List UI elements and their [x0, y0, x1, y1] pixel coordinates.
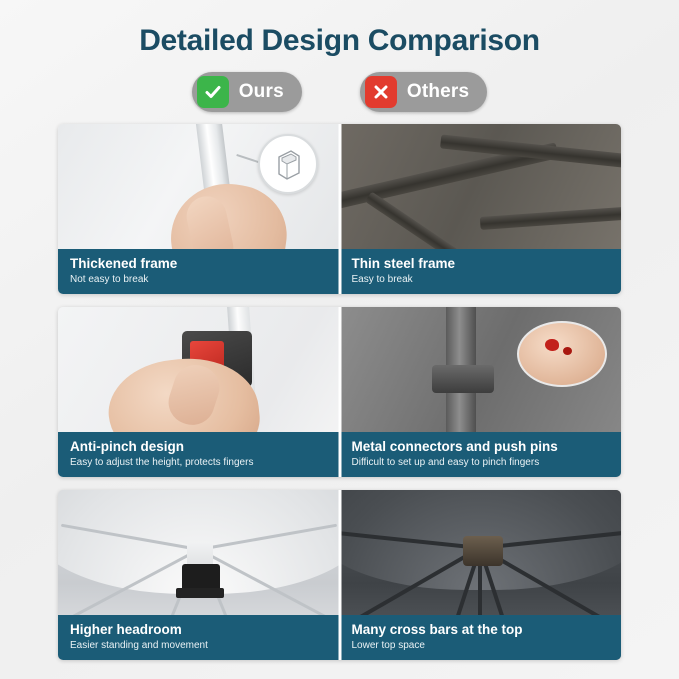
row2-others-caption: Metal connectors and push pins Difficult… [340, 432, 622, 477]
row3-others-title: Many cross bars at the top [352, 622, 610, 638]
center-hub [463, 536, 503, 566]
row3-others-subtitle: Lower top space [352, 640, 610, 652]
blood-drop-icon [563, 347, 572, 355]
frame-profile-callout [258, 134, 318, 194]
comparison-row-headroom: Higher headroom Easier standing and move… [58, 490, 621, 660]
row2-ours-title: Anti-pinch design [70, 439, 328, 455]
row1-others-caption: Thin steel frame Easy to break [340, 249, 622, 294]
row3-others-caption: Many cross bars at the top Lower top spa… [340, 615, 622, 660]
legend-ours-label: Ours [239, 81, 284, 103]
row3-ours-caption: Higher headroom Easier standing and move… [58, 615, 340, 660]
row1-ours-subtitle: Not easy to break [70, 274, 328, 286]
comparison-row-anti-pinch: Anti-pinch design Easy to adjust the hei… [58, 307, 621, 477]
legend-others-label: Others [407, 81, 469, 103]
row-divider [338, 490, 341, 660]
row2-ours-caption: Anti-pinch design Easy to adjust the hei… [58, 432, 340, 477]
row2-ours-panel: Anti-pinch design Easy to adjust the hei… [58, 307, 340, 477]
legend-row: Ours Others [0, 72, 679, 112]
blood-drop-icon [545, 339, 559, 351]
row1-ours-title: Thickened frame [70, 256, 328, 272]
row2-others-title: Metal connectors and push pins [352, 439, 610, 455]
row3-others-panel: Many cross bars at the top Lower top spa… [340, 490, 622, 660]
cross-icon [365, 76, 397, 108]
comparison-page: Detailed Design Comparison Ours Others [0, 0, 679, 679]
row1-others-subtitle: Easy to break [352, 274, 610, 286]
row1-others-panel: Thin steel frame Easy to break [340, 124, 622, 294]
metal-connector [432, 365, 494, 393]
check-icon [197, 76, 229, 108]
thin-steel-bar [479, 203, 621, 230]
legend-others: Others [360, 72, 487, 112]
row1-others-title: Thin steel frame [352, 256, 610, 272]
row-divider [338, 124, 341, 294]
comparison-row-frame: Thickened frame Not easy to break Thin s… [58, 124, 621, 294]
row-divider [338, 307, 341, 477]
row3-ours-title: Higher headroom [70, 622, 328, 638]
row2-others-panel: Metal connectors and push pins Difficult… [340, 307, 622, 477]
pinched-finger-inset [517, 321, 607, 387]
comparison-rows: Thickened frame Not easy to break Thin s… [58, 124, 621, 660]
latch-arm [176, 588, 224, 598]
row1-ours-panel: Thickened frame Not easy to break [58, 124, 340, 294]
row1-ours-caption: Thickened frame Not easy to break [58, 249, 340, 294]
row2-others-subtitle: Difficult to set up and easy to pinch fi… [352, 457, 610, 469]
row3-ours-subtitle: Easier standing and movement [70, 640, 328, 652]
page-title: Detailed Design Comparison [0, 0, 679, 56]
legend-ours: Ours [192, 72, 302, 112]
row2-ours-subtitle: Easy to adjust the height, protects fing… [70, 457, 328, 469]
row3-ours-panel: Higher headroom Easier standing and move… [58, 490, 340, 660]
